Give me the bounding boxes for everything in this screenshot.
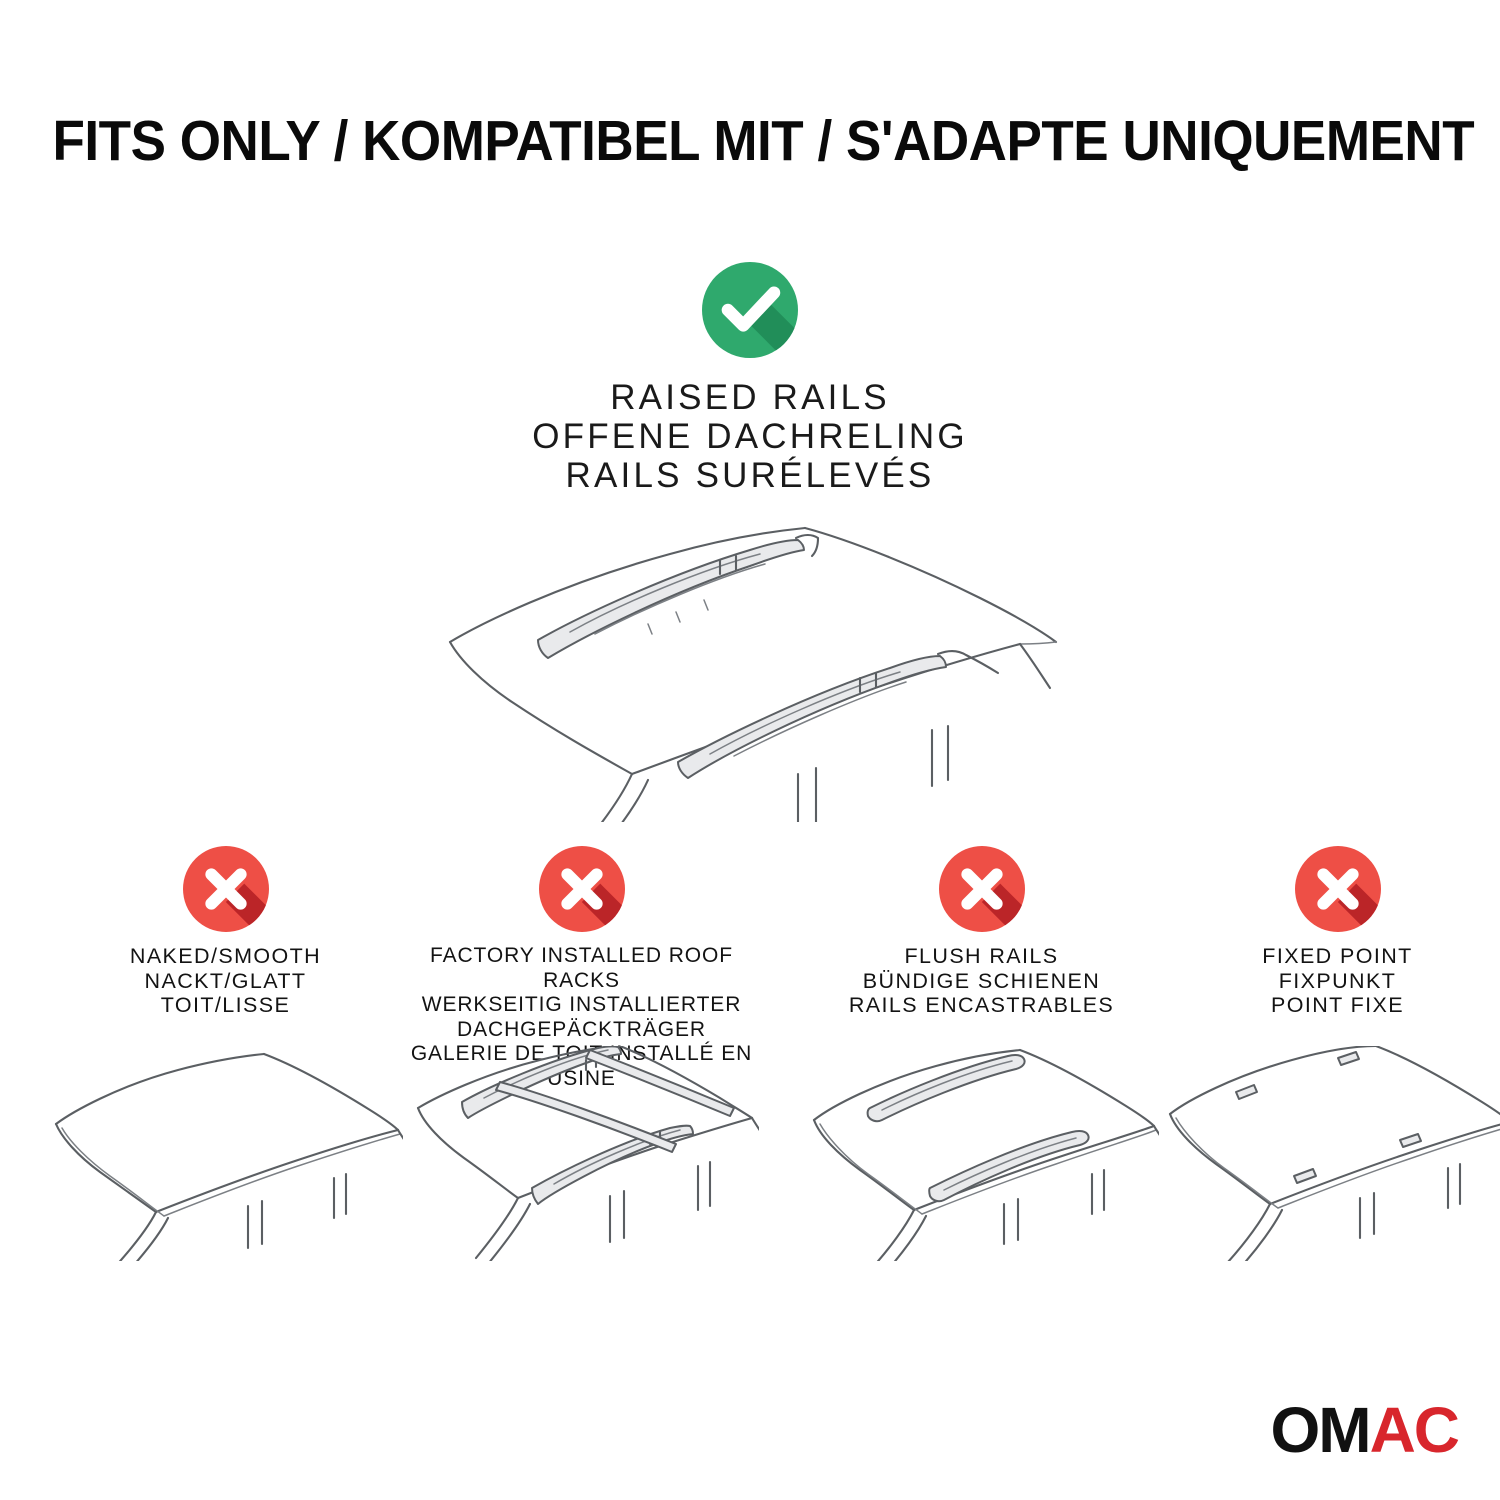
item-label: FIXED POINT FIXPUNKT POINT FIXE <box>1160 944 1500 1018</box>
car-roof-fixed-point-illustration <box>1160 1046 1500 1261</box>
x-mark-glyph <box>539 846 625 932</box>
x-mark-glyph <box>1295 846 1381 932</box>
x-circle-icon <box>939 846 1025 932</box>
x-circle-icon <box>183 846 269 932</box>
check-circle-icon <box>702 262 798 358</box>
car-roof-flush-rails-illustration <box>804 1046 1159 1261</box>
page-title: FITS ONLY / KOMPATIBEL MIT / S'ADAPTE UN… <box>53 108 1448 174</box>
car-roof-naked-smooth-illustration <box>48 1046 403 1261</box>
x-mark-glyph <box>939 846 1025 932</box>
car-roof-factory-roof-racks-illustration <box>404 1046 759 1261</box>
x-circle-icon <box>1295 846 1381 932</box>
omac-logo: OMAC <box>1270 1398 1458 1462</box>
x-mark-glyph <box>183 846 269 932</box>
item-label: FLUSH RAILS BÜNDIGE SCHIENEN RAILS ENCAS… <box>804 944 1159 1018</box>
raised-rails-label: RAISED RAILS OFFENE DACHRELING RAILS SUR… <box>0 378 1500 495</box>
car-roof-raised-rails-illustration <box>420 512 1080 822</box>
logo-text-ac: AC <box>1370 1394 1458 1466</box>
infographic-page: FITS ONLY / KOMPATIBEL MIT / S'ADAPTE UN… <box>0 0 1500 1500</box>
item-label: NAKED/SMOOTH NACKT/GLATT TOIT/LISSE <box>48 944 403 1018</box>
logo-text-om: OM <box>1270 1394 1369 1466</box>
check-mark-glyph <box>702 262 798 358</box>
x-circle-icon <box>539 846 625 932</box>
